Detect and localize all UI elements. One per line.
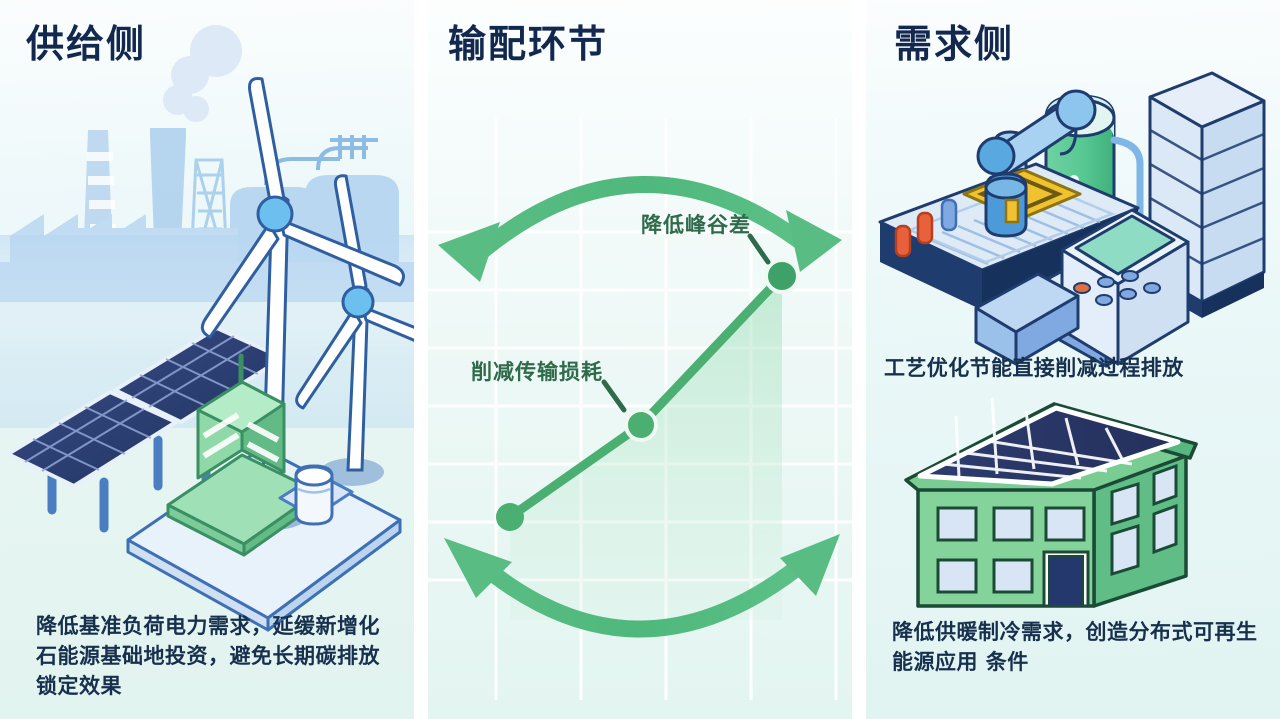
panel-title-transmission: 输配环节: [448, 24, 608, 66]
chart-point: [766, 260, 798, 292]
panel-title-supply: 供给侧: [26, 24, 146, 66]
infographic-board: 供给侧 降低基准负荷电力需求，延缓新增化石能源基础地投资，避免长期碳排放锁定效果: [0, 0, 1280, 719]
chart-point: [626, 410, 656, 440]
chart-annotation-peak-valley: 降低峰谷差: [641, 209, 751, 239]
leader-line: [750, 236, 768, 262]
panel-caption-supply: 降低基准负荷电力需求，延缓新增化石能源基础地投资，避免长期碳排放锁定效果: [36, 612, 398, 701]
panel-caption-demand: 降低供暖制冷需求，创造分布式可再生能源应用 条件: [892, 618, 1270, 678]
smoke-cloud-icon: [163, 25, 242, 122]
chart-point: [496, 503, 524, 531]
panel-note-demand: 工艺优化节能直接削减过程排放: [884, 352, 1270, 382]
panel-supply-side: 供给侧 降低基准负荷电力需求，延缓新增化石能源基础地投资，避免长期碳排放锁定效果: [0, 0, 414, 719]
panel-divider-left: [414, 0, 428, 719]
chart-annotation-transmission-loss: 削减传输损耗: [471, 356, 603, 386]
panel-transmission: 输配环节 降低峰谷差 削减传输损耗: [428, 0, 852, 719]
door-icon: [1044, 552, 1088, 606]
panel-title-demand: 需求侧: [894, 24, 1014, 66]
house-icon: [906, 398, 1196, 606]
panel-demand-side: 需求侧 工艺优化节能直接削减过程排放 降低供暖制冷需求，创造分布式可再生能源应用…: [866, 0, 1280, 719]
panel-divider-right: [852, 0, 866, 719]
chart-area-fill: [510, 276, 782, 620]
